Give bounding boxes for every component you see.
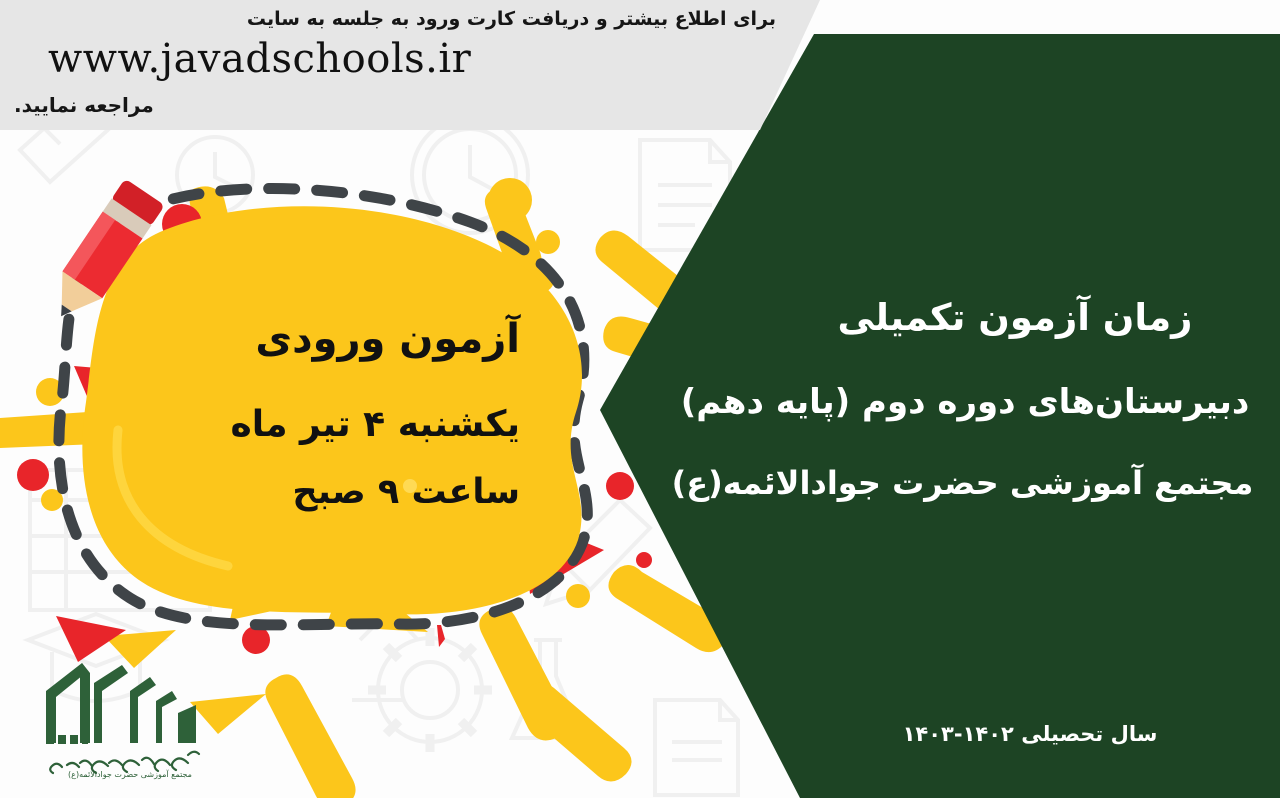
poster-canvas: برای اطلاع بیشتر و دریافت کارت ورود به ج… xyxy=(0,0,1280,798)
academic-year: سال تحصیلی ۱۴۰۲-۱۴۰۳ xyxy=(880,722,1180,746)
details-line-3: مجتمع آموزشی حضرت جوادالائمه(ع) xyxy=(655,464,1270,502)
banner-instruction-line: برای اطلاع بیشتر و دریافت کارت ورود به ج… xyxy=(247,8,776,30)
website-url[interactable]: www.javadschools.ir xyxy=(48,36,471,82)
details-line-2: دبیرستان‌های دوره دوم (پایه دهم) xyxy=(660,382,1270,422)
top-banner: برای اطلاع بیشتر و دریافت کارت ورود به ج… xyxy=(0,0,820,130)
announcement-heading: آزمون ورودی xyxy=(120,316,520,362)
banner-visit-line: مراجعه نمایید. xyxy=(14,93,154,117)
school-logo: مجتمع آموزشی حضرت جوادالائمه(ع) xyxy=(38,655,223,780)
announcement-time: ساعت ۹ صبح xyxy=(100,472,520,512)
announcement-date: یکشنبه ۴ تیر ماه xyxy=(110,404,520,445)
details-line-1: زمان آزمون تکمیلی xyxy=(760,296,1270,339)
logo-caption: مجتمع آموزشی حضرت جوادالائمه(ع) xyxy=(68,769,192,779)
